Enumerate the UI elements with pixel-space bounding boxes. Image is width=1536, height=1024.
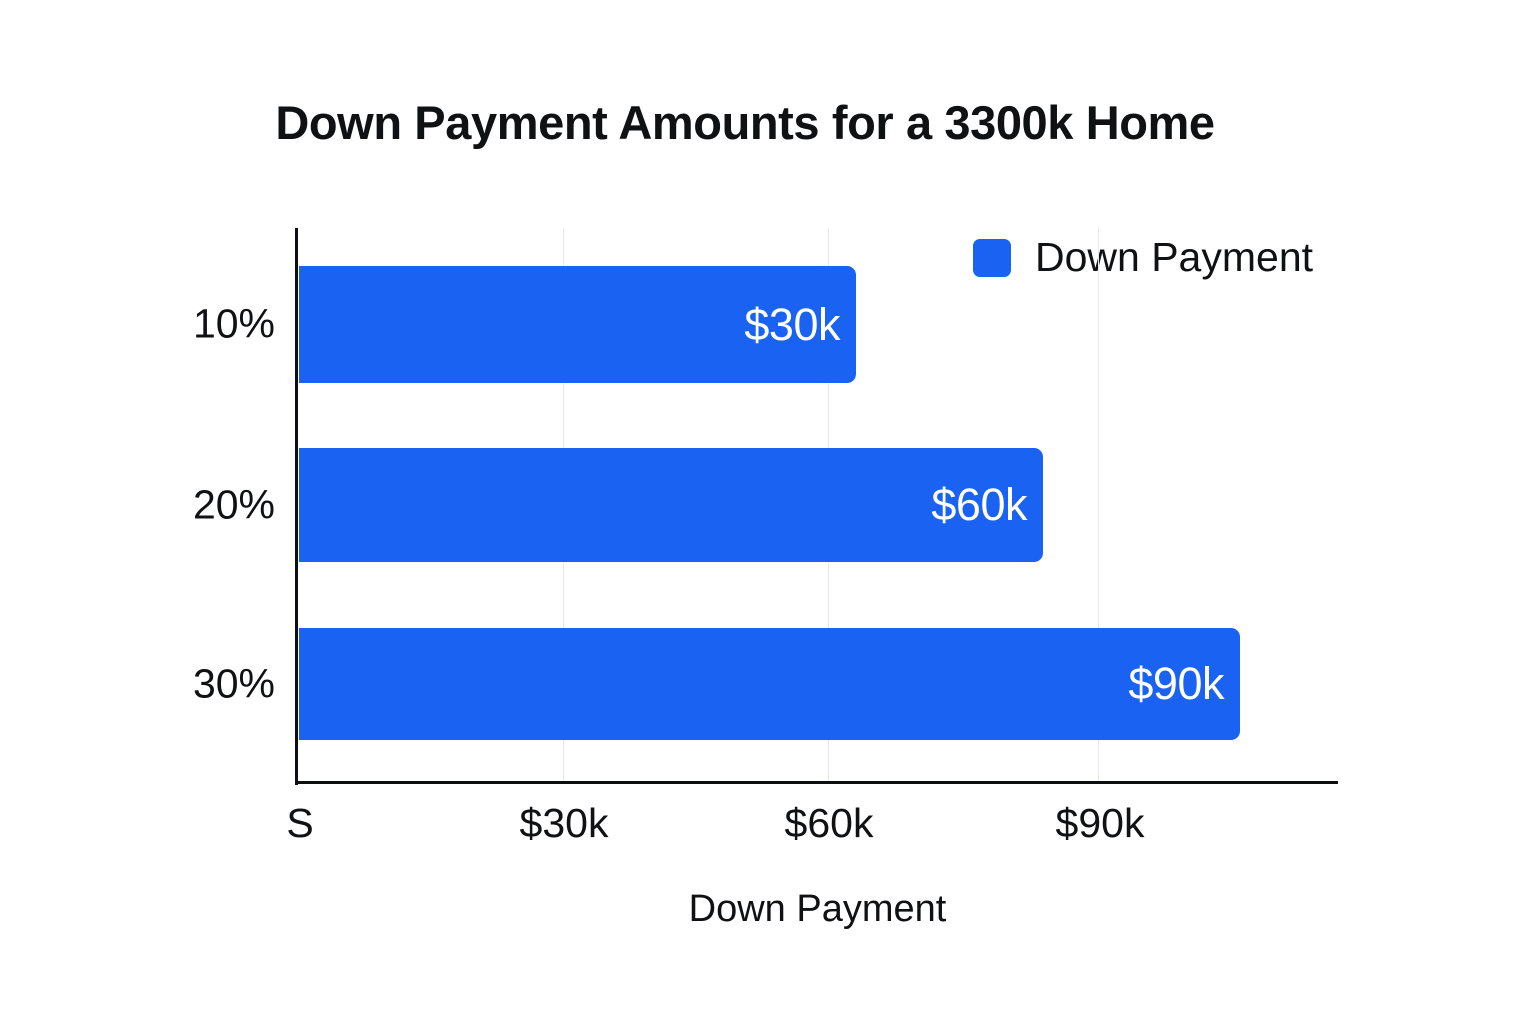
plot-area: $30k $60k $90k [297,228,1338,783]
y-tick-label-20-percent: 20% [193,482,275,529]
bar-value-label-30-percent: $90k [1128,658,1224,710]
y-tick-label-30-percent: 30% [193,661,275,708]
bar-value-label-20-percent: $60k [931,479,1027,531]
x-tick-label-30k: $30k [520,800,609,847]
x-axis-title: Down Payment [297,888,1338,931]
bar-value-label-10-percent: $30k [744,299,840,351]
x-tick-label-60k: $60k [785,800,874,847]
x-tick-label-90k: $90k [1056,800,1145,847]
bar-20-percent[interactable]: $60k [299,448,1043,562]
x-tick-label-0: S [286,800,313,847]
chart-canvas: Down Payment Amounts for a 3300k Home Do… [0,0,1536,1024]
y-tick-label-10-percent: 10% [193,301,275,348]
chart-title: Down Payment Amounts for a 3300k Home [0,96,1490,150]
y-axis-line [295,228,298,785]
bar-10-percent[interactable]: $30k [299,266,856,383]
x-axis-line [295,781,1338,784]
bar-30-percent[interactable]: $90k [299,628,1240,740]
